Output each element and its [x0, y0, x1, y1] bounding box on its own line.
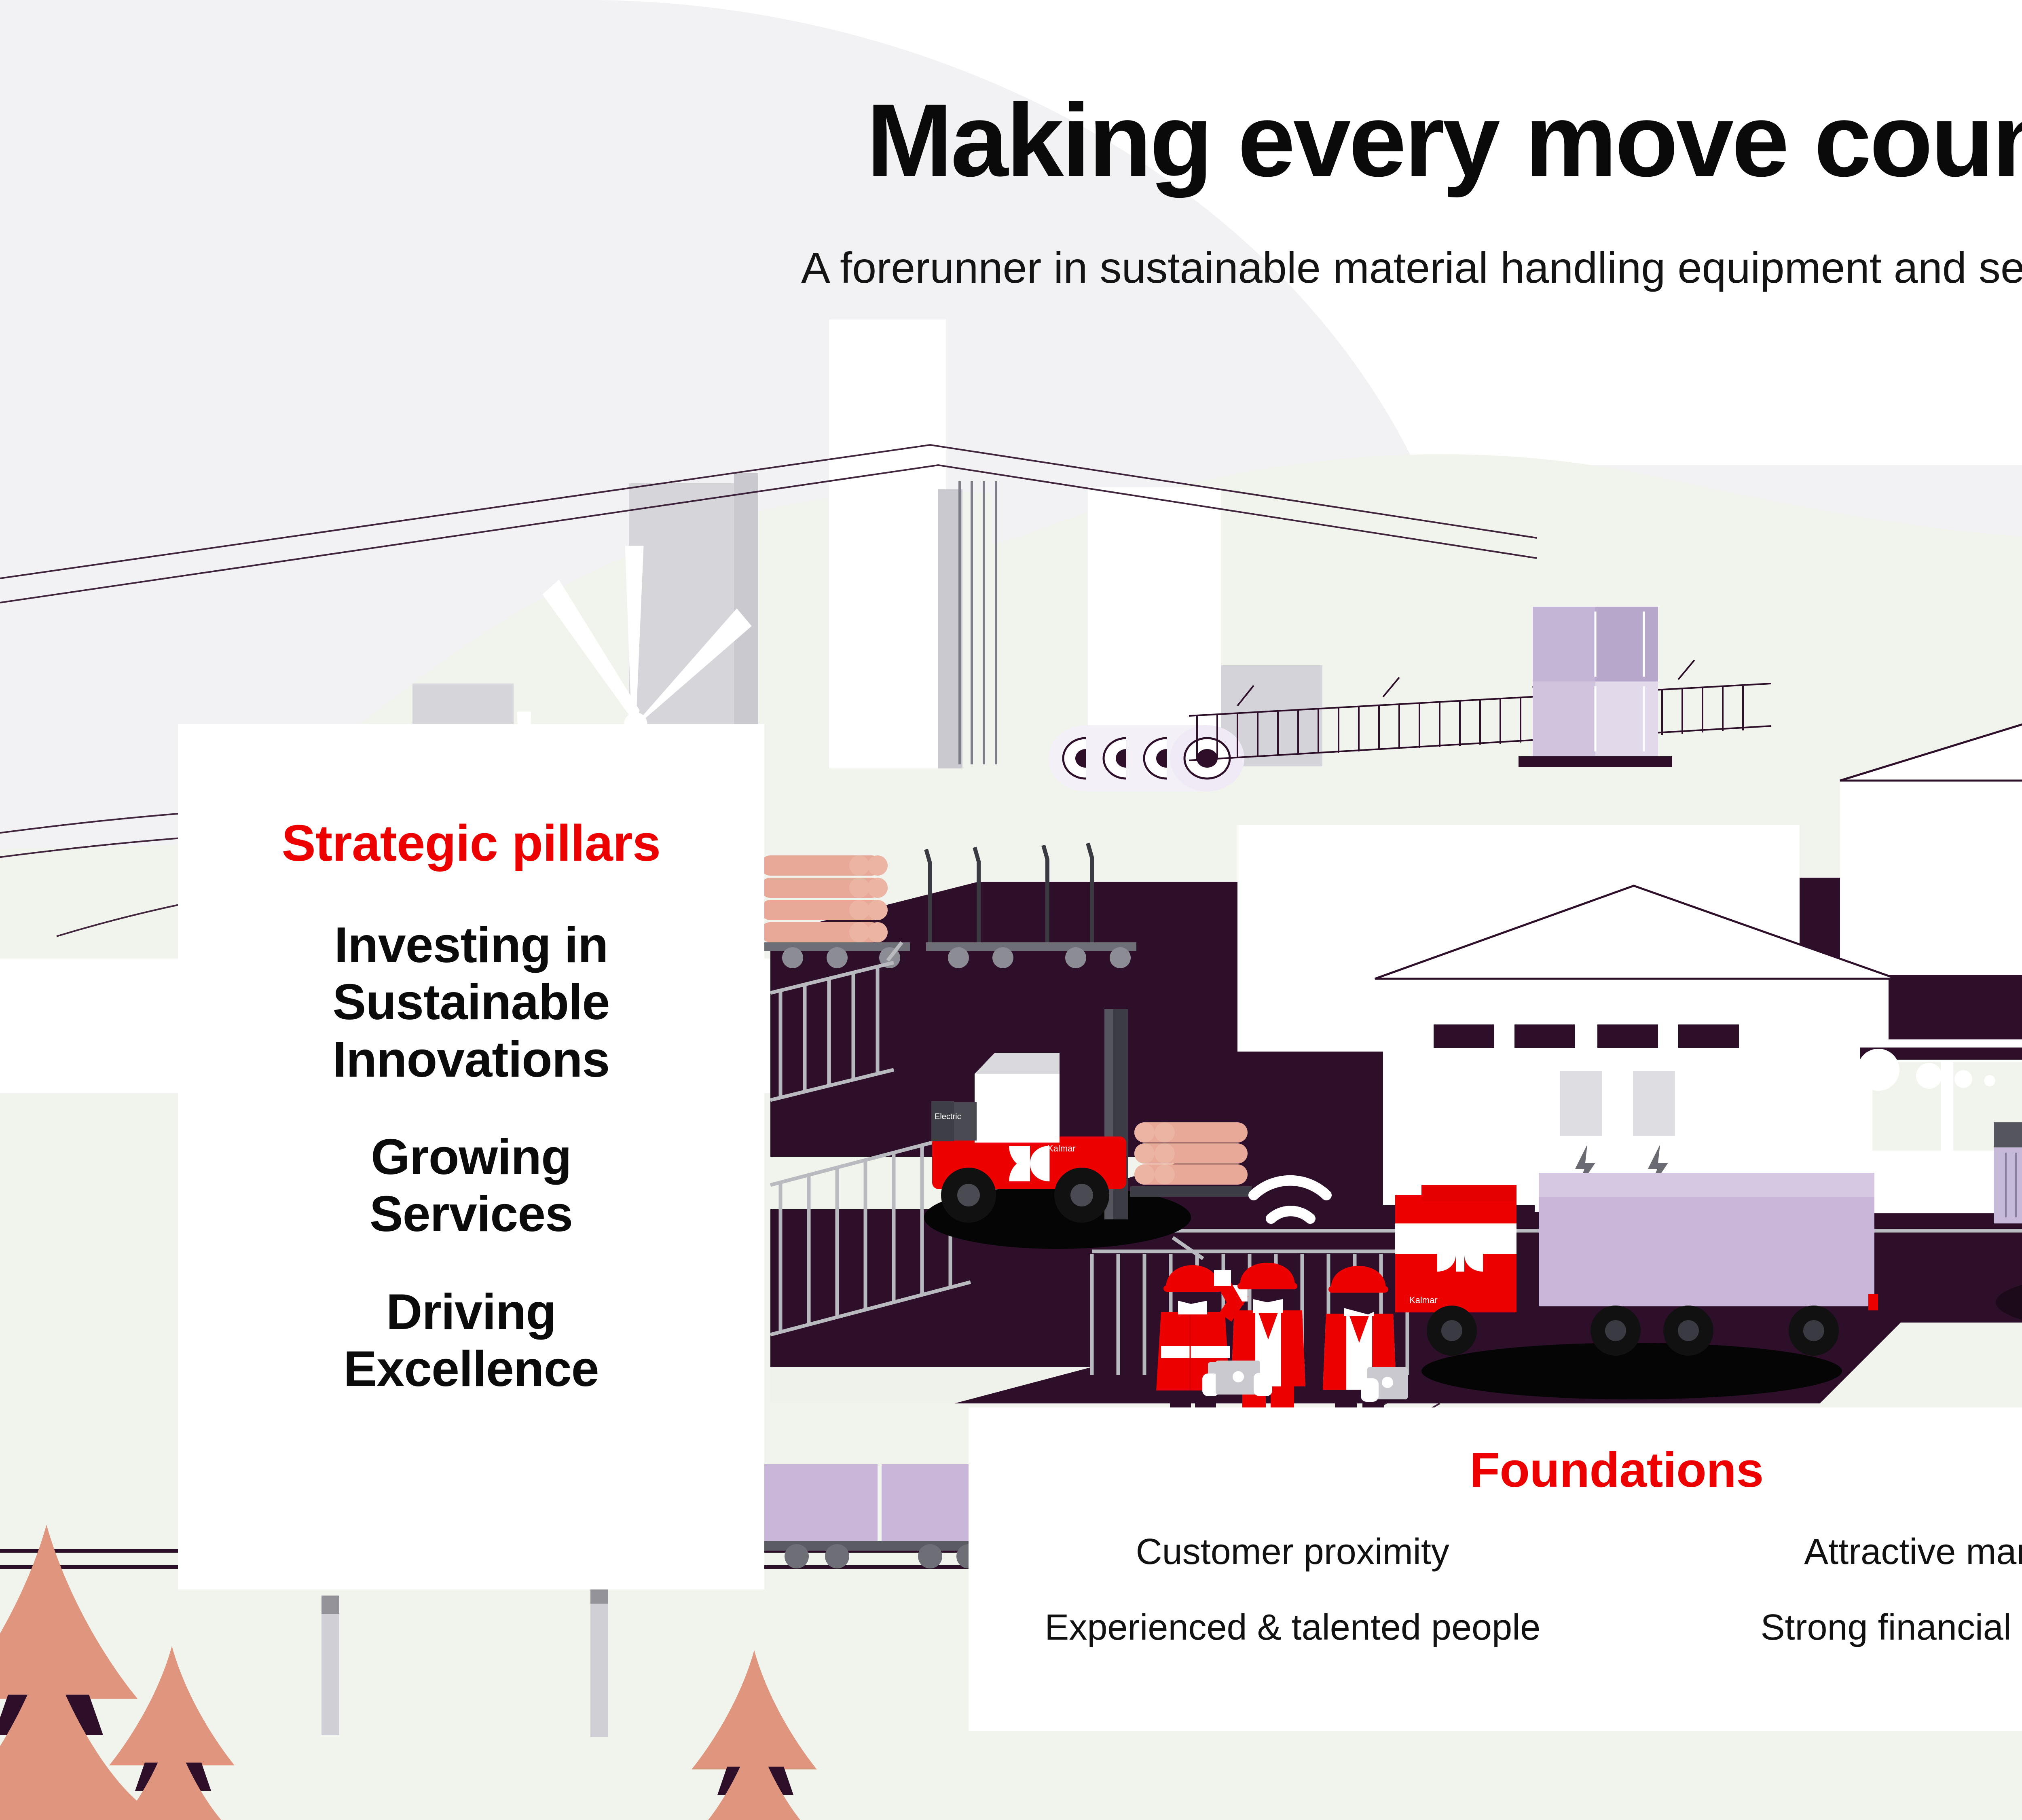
- kalmar-k-mark-truck: [1437, 1238, 1483, 1272]
- foundations-grid: Customer proximity Attractive market Exp…: [969, 1531, 2022, 1649]
- svg-text:Kalmar: Kalmar: [1409, 1295, 1438, 1305]
- strategic-pillars-list: Investing in Sustainable Innovations Gro…: [178, 917, 764, 1398]
- svg-text:Kalmar: Kalmar: [1047, 1143, 1076, 1153]
- foundation-item: Customer proximity: [1136, 1531, 1449, 1573]
- infographic-canvas: Electric Kalmar: [0, 0, 2022, 1820]
- strategic-pillar-item: Investing in Sustainable Innovations: [178, 917, 764, 1088]
- foundation-item: Strong financial profile: [1760, 1607, 2022, 1649]
- foundations-title: Foundations: [969, 1441, 2022, 1498]
- container-stack-mid: [1519, 607, 1672, 767]
- foundations-panel: Foundations Customer proximity Attractiv…: [969, 1407, 2022, 1731]
- headline-block: Making every move count A forerunner in …: [687, 0, 2022, 297]
- page-title: Making every move count: [687, 81, 2022, 200]
- strategic-pillar-item: Driving Excellence: [178, 1284, 764, 1398]
- svg-text:Electric: Electric: [935, 1112, 961, 1121]
- strategic-pillar-item: Growing Services: [178, 1129, 764, 1243]
- strategic-pillars-panel: Strategic pillars Investing in Sustainab…: [178, 724, 764, 1589]
- foundation-item: Attractive market: [1804, 1531, 2022, 1573]
- terminal-tractor-truck: Kalmar: [1395, 1173, 1882, 1399]
- strategic-pillars-title: Strategic pillars: [178, 814, 764, 872]
- page-subtitle: A forerunner in sustainable material han…: [687, 239, 2022, 297]
- foundation-item: Experienced & talented people: [1045, 1607, 1540, 1649]
